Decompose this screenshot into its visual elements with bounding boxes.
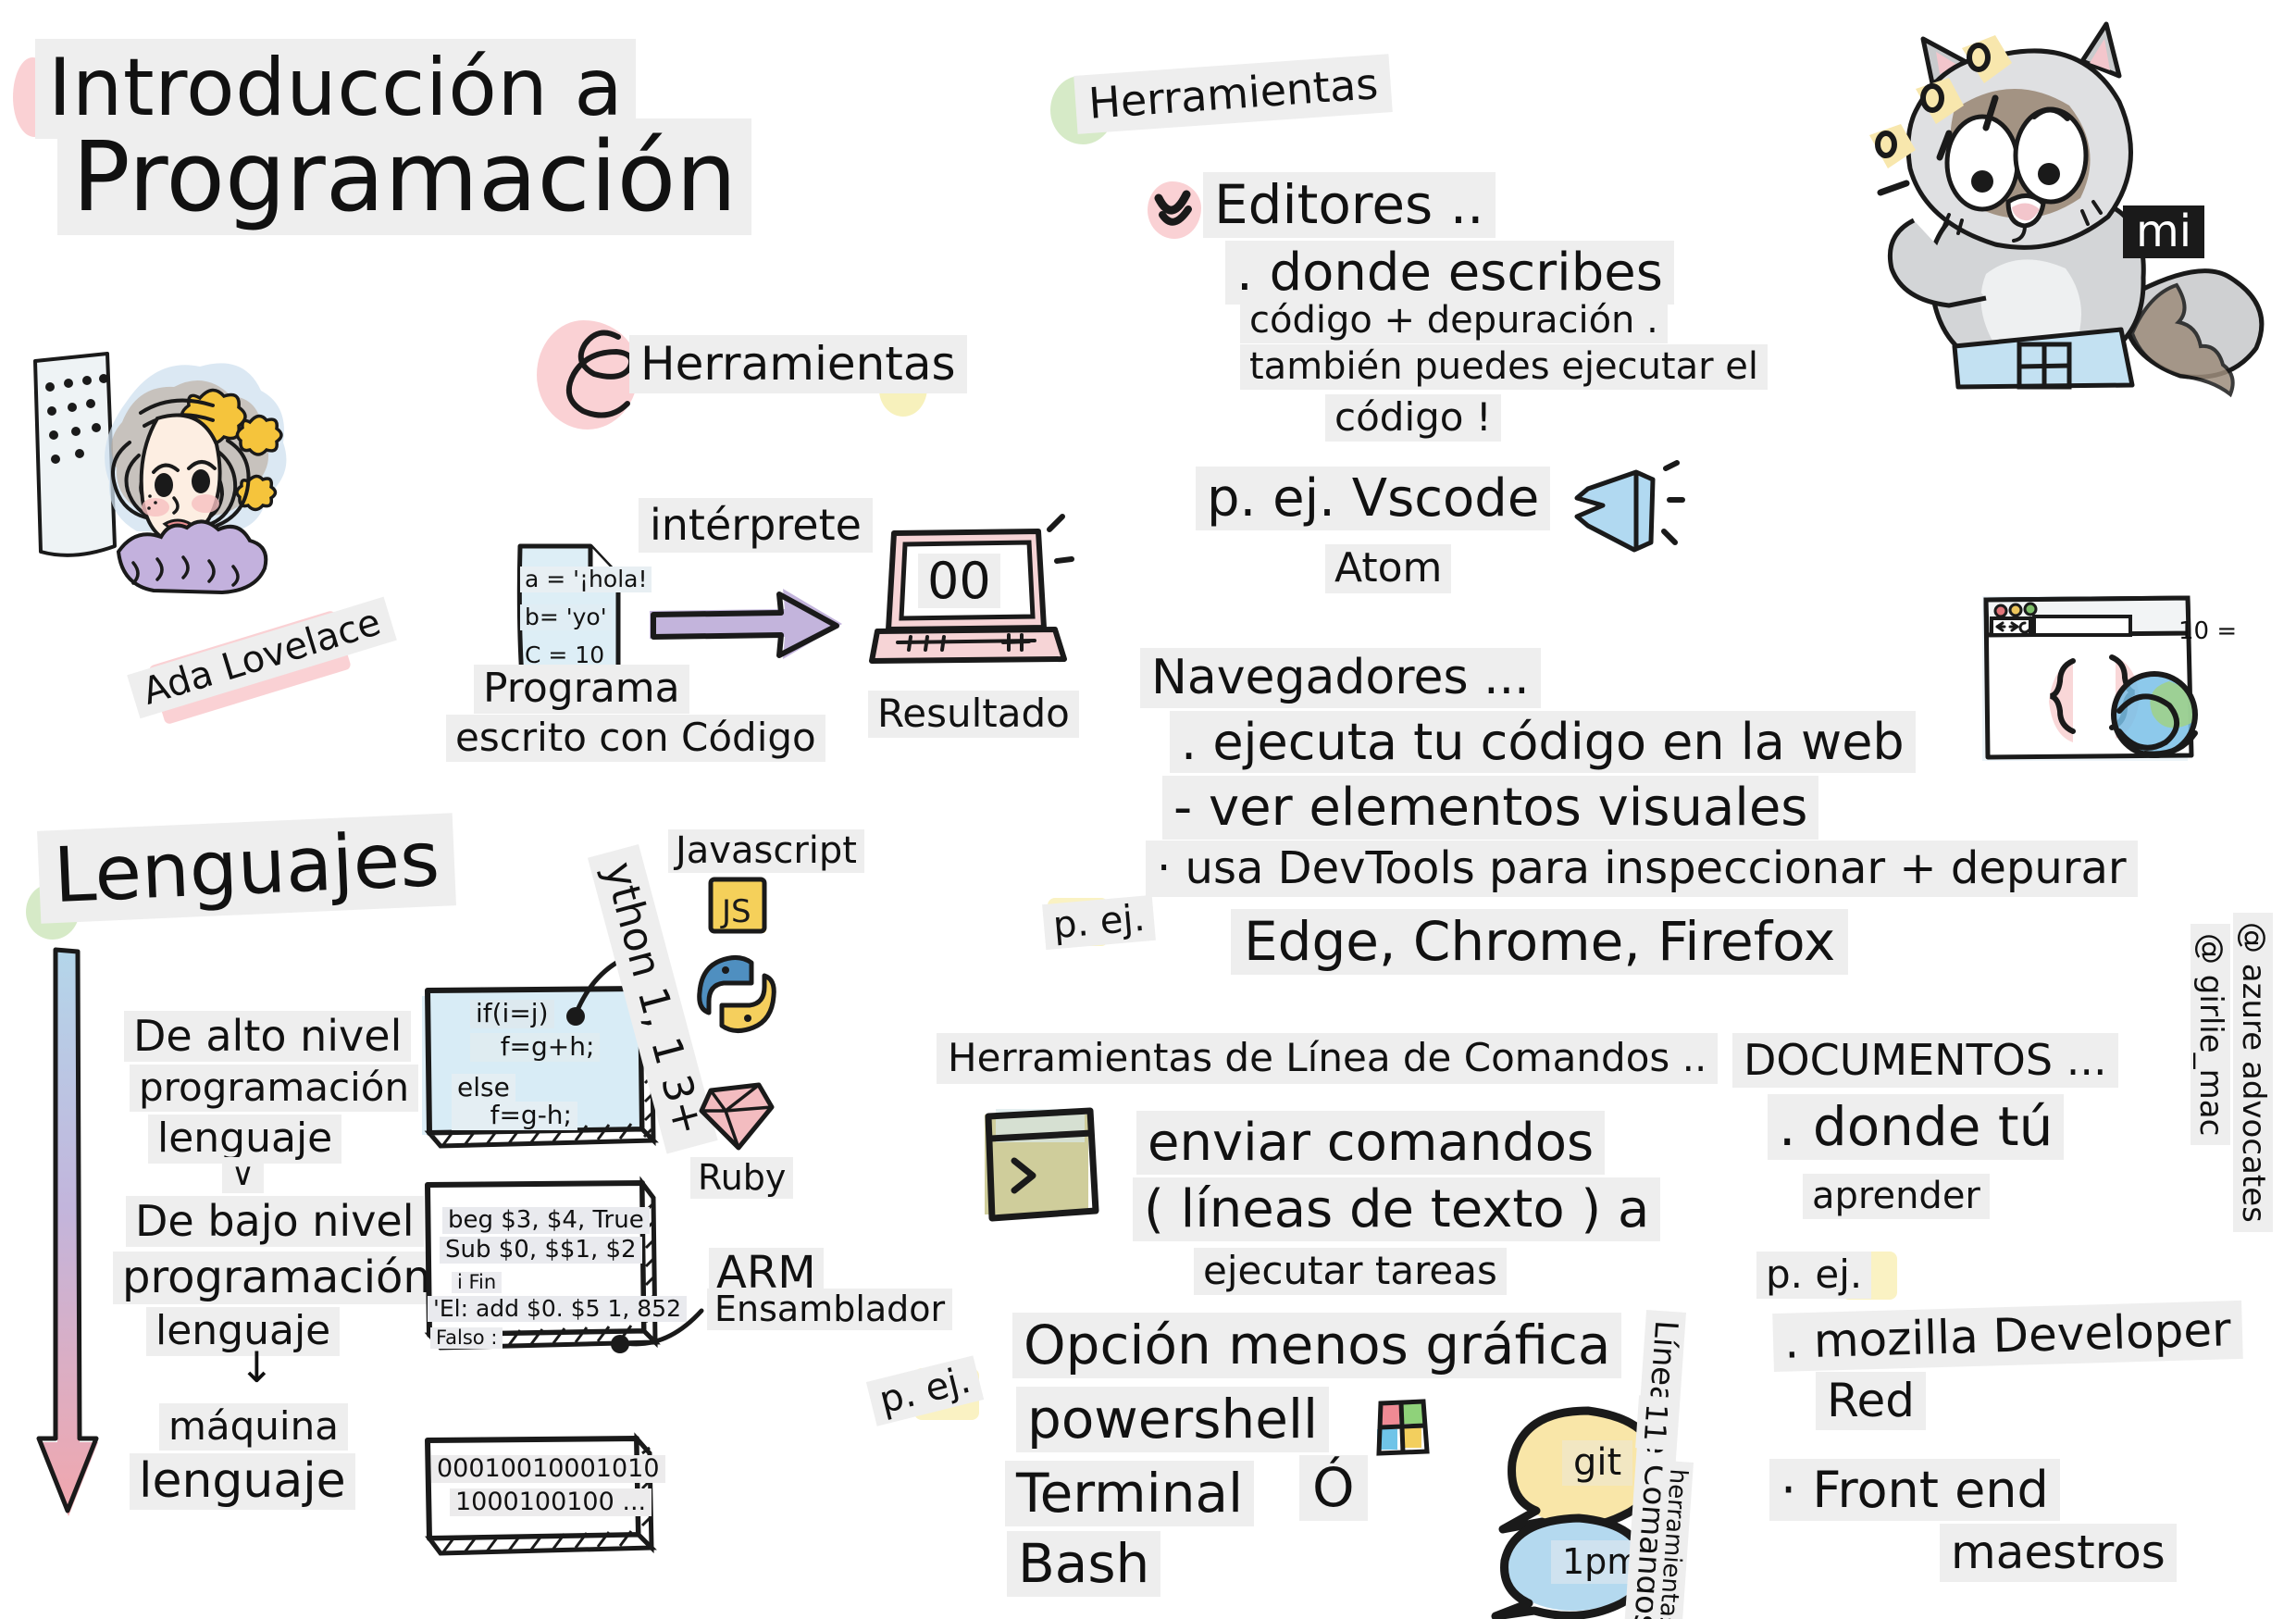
languages-high-2: programación xyxy=(130,1065,418,1112)
editors-line-0: . donde escribes xyxy=(1225,241,1674,305)
languages-machine-1: máquina xyxy=(159,1403,348,1451)
docs-item-1a: . mozilla Developer xyxy=(1772,1301,2242,1372)
docs-item-2b: maestros xyxy=(1940,1524,2177,1582)
page-title-line2: Programación xyxy=(57,118,751,235)
languages-down-arrow: ↓ xyxy=(231,1346,282,1389)
cli-line-4: Opción menos gráfica xyxy=(1012,1313,1621,1378)
code-high-line-3: f=g-h; xyxy=(452,1102,577,1130)
cli-line-1: enviar comandos xyxy=(1136,1111,1605,1175)
tools-label-top: Herramientas xyxy=(1074,54,1393,134)
interpreter-arrow-icon xyxy=(646,583,850,666)
cli-shell-or: Ó xyxy=(1299,1455,1368,1521)
program-label-1: Programa xyxy=(474,665,689,714)
cli-line-2: ( líneas de texto ) a xyxy=(1133,1177,1660,1241)
sketchnote-canvas: Introducción a Programación xyxy=(0,0,2296,1619)
editors-line-2: también puedes ejecutar el xyxy=(1240,344,1768,390)
raccoon-illustration xyxy=(1814,17,2295,387)
windows-logo-icon xyxy=(1373,1400,1431,1457)
code-asm-line-1: Sub $0, $$1, $2 xyxy=(440,1237,642,1264)
cli-shell-powershell: powershell xyxy=(1016,1387,1329,1452)
languages-high-1: De alto nivel xyxy=(124,1011,411,1062)
editors-line-1: código + depuración . xyxy=(1240,298,1668,343)
code-high-line-0: if(i=j) xyxy=(470,1000,554,1028)
editors-example-vscode: p. ej. Vscode xyxy=(1196,467,1550,530)
ada-lovelace-illustration xyxy=(19,333,333,611)
cli-line-3: ejecutar tareas xyxy=(1194,1248,1507,1295)
languages-heading: Lenguajes xyxy=(37,813,456,923)
editors-line-3: código ! xyxy=(1325,394,1501,442)
program-code-line-0: a = '¡hola! xyxy=(520,567,652,592)
languages-low-1: De bajo nivel xyxy=(126,1196,424,1247)
browsers-line-2: · usa DevTools para inspeccionar + depur… xyxy=(1146,841,2138,897)
editors-example-atom: Atom xyxy=(1325,544,1451,593)
languages-machine-2: lenguaje xyxy=(130,1453,355,1510)
code-asm-line-0: beg $3, $4, True xyxy=(442,1207,650,1234)
docs-line-2: aprender xyxy=(1803,1174,1990,1219)
result-label: Resultado xyxy=(868,691,1079,738)
docs-line-1: . donde tú xyxy=(1768,1094,2064,1160)
javascript-label: Javascript xyxy=(668,829,864,873)
docs-heading: DOCUMENTOS ... xyxy=(1732,1033,2118,1088)
result-screen-value: 00 xyxy=(918,554,1000,608)
browsers-examples: Edge, Chrome, Firefox xyxy=(1231,909,1848,975)
watermark-mi: mi xyxy=(2123,205,2204,258)
browser-url-value: 10 = xyxy=(2173,618,2242,645)
browsers-heading: Navegadores ... xyxy=(1140,648,1541,708)
ruby-icon xyxy=(694,1079,779,1155)
python-icon xyxy=(696,952,779,1037)
browser-window-illustration xyxy=(1969,585,2219,789)
ada-caption: Ada Lovelace xyxy=(127,597,396,718)
browsers-line-0: . ejecuta tu código en la web xyxy=(1170,711,1916,773)
docs-item-1b: Red xyxy=(1816,1372,1926,1430)
docs-item-2a: · Front end xyxy=(1769,1459,2060,1521)
ruby-label: Ruby xyxy=(690,1157,793,1199)
code-bin-line-0: 00010010001010 xyxy=(431,1455,665,1483)
level-gradient-arrow-icon xyxy=(37,942,111,1535)
browsers-line-1: - ver elementos visuales xyxy=(1162,776,1818,840)
languages-low-2: programación xyxy=(113,1252,441,1304)
credit-azure-advocates: @ azure advocates xyxy=(2233,913,2273,1232)
languages-mid-arrow: ∨ xyxy=(222,1157,264,1193)
vscode-icon xyxy=(1568,459,1679,561)
browsers-example-prefix: p. ej. xyxy=(1042,895,1156,950)
code-high-line-2: else xyxy=(452,1074,515,1102)
ada-portrait-svg xyxy=(19,333,333,611)
cli-shell-terminal: Terminal xyxy=(1005,1461,1254,1526)
git-bubble-label: git xyxy=(1562,1440,1632,1486)
editors-heading: Editores .. xyxy=(1203,172,1496,238)
code-bin-line-1: 1000100100 ... xyxy=(450,1488,652,1516)
terminal-icon xyxy=(972,1102,1111,1231)
program-label-2: escrito con Código xyxy=(446,715,825,762)
code-asm-line-4: Falso : xyxy=(430,1327,503,1349)
assembler-label: Ensamblador xyxy=(707,1289,952,1330)
program-code-line-1: b= 'yo' xyxy=(520,604,612,630)
tools-label-left: Herramientas xyxy=(629,335,967,393)
cli-heading: Herramientas de Línea de Comandos .. xyxy=(937,1033,1718,1084)
code-asm-line-2: i Fin xyxy=(452,1272,502,1293)
cli-shell-bash: Bash xyxy=(1007,1531,1160,1597)
interpreter-label: intérprete xyxy=(639,498,873,553)
javascript-icon-text: JS xyxy=(722,896,751,928)
cli-vertical-number: 11 xyxy=(1636,1395,1675,1450)
docs-example-prefix: p. ej. xyxy=(1756,1252,1871,1299)
credit-girlie-mac: @ girlie_mac xyxy=(2191,924,2230,1145)
code-high-line-1: f=g+h; xyxy=(470,1033,600,1062)
